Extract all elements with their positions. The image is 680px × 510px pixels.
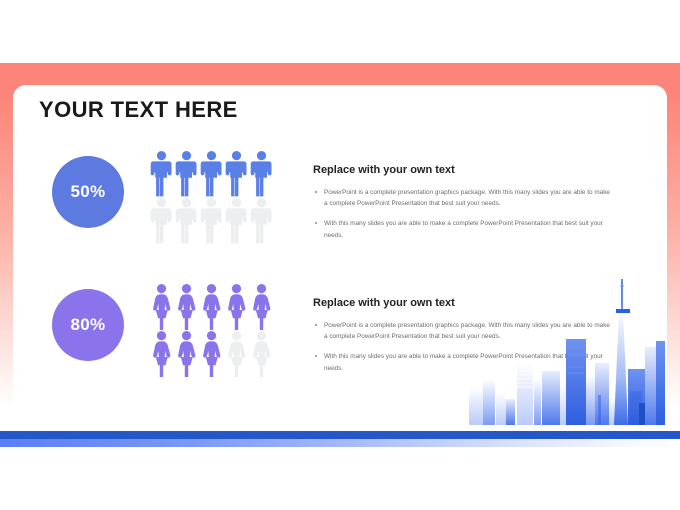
percent-label: 80% — [71, 315, 106, 335]
pictogram-row — [149, 283, 277, 330]
person-male-icon — [174, 197, 199, 244]
person-female-icon — [174, 283, 199, 330]
percent-circle-50: 50% — [52, 156, 124, 228]
stat-row-male: 50% Replace with your own text PowerPoin… — [13, 150, 667, 260]
pictogram-row — [149, 197, 277, 244]
bullet-dot-icon — [315, 355, 317, 357]
person-female-icon — [224, 330, 249, 377]
bottom-bar-solid — [0, 431, 680, 439]
bullet-dot-icon — [315, 222, 317, 224]
text-block-female: Replace with your own text PowerPoint is… — [313, 297, 613, 383]
section-heading: Replace with your own text — [313, 164, 613, 176]
bullet-item: PowerPoint is a complete presentation gr… — [313, 320, 613, 342]
bullet-item: PowerPoint is a complete presentation gr… — [313, 187, 613, 209]
person-female-icon — [249, 283, 274, 330]
person-male-icon — [199, 150, 224, 197]
slide-canvas: YOUR TEXT HERE 50% Replace with your own… — [0, 0, 680, 510]
person-female-icon — [199, 330, 224, 377]
content-card: YOUR TEXT HERE 50% Replace with your own… — [13, 85, 667, 425]
stat-row-female: 80% Replace with your own text PowerPoin… — [13, 283, 667, 393]
bullet-dot-icon — [315, 324, 317, 326]
person-male-icon — [149, 197, 174, 244]
percent-circle-80: 80% — [52, 289, 124, 361]
person-male-icon — [249, 197, 274, 244]
person-male-icon — [249, 150, 274, 197]
text-block-male: Replace with your own text PowerPoint is… — [313, 164, 613, 250]
percent-label: 50% — [71, 182, 106, 202]
pictogram-group-male — [149, 150, 277, 244]
bottom-bar-gradient — [0, 439, 680, 447]
bullet-dot-icon — [315, 191, 317, 193]
bullet-text: PowerPoint is a complete presentation gr… — [324, 189, 610, 207]
bullet-text: PowerPoint is a complete presentation gr… — [324, 322, 610, 340]
person-female-icon — [149, 283, 174, 330]
bullet-item: With this many slides you are able to ma… — [313, 351, 613, 373]
pictogram-group-female — [149, 283, 277, 377]
person-female-icon — [149, 330, 174, 377]
person-female-icon — [224, 283, 249, 330]
person-male-icon — [224, 150, 249, 197]
pictogram-row — [149, 150, 277, 197]
pictogram-row — [149, 330, 277, 377]
bullet-text: With this many slides you are able to ma… — [324, 220, 603, 238]
person-male-icon — [149, 150, 174, 197]
person-male-icon — [199, 197, 224, 244]
section-heading: Replace with your own text — [313, 297, 613, 309]
person-female-icon — [174, 330, 199, 377]
person-female-icon — [249, 330, 274, 377]
bullet-item: With this many slides you are able to ma… — [313, 218, 613, 240]
person-male-icon — [174, 150, 199, 197]
person-male-icon — [224, 197, 249, 244]
page-title: YOUR TEXT HERE — [39, 97, 238, 123]
bullet-text: With this many slides you are able to ma… — [324, 353, 603, 371]
person-female-icon — [199, 283, 224, 330]
